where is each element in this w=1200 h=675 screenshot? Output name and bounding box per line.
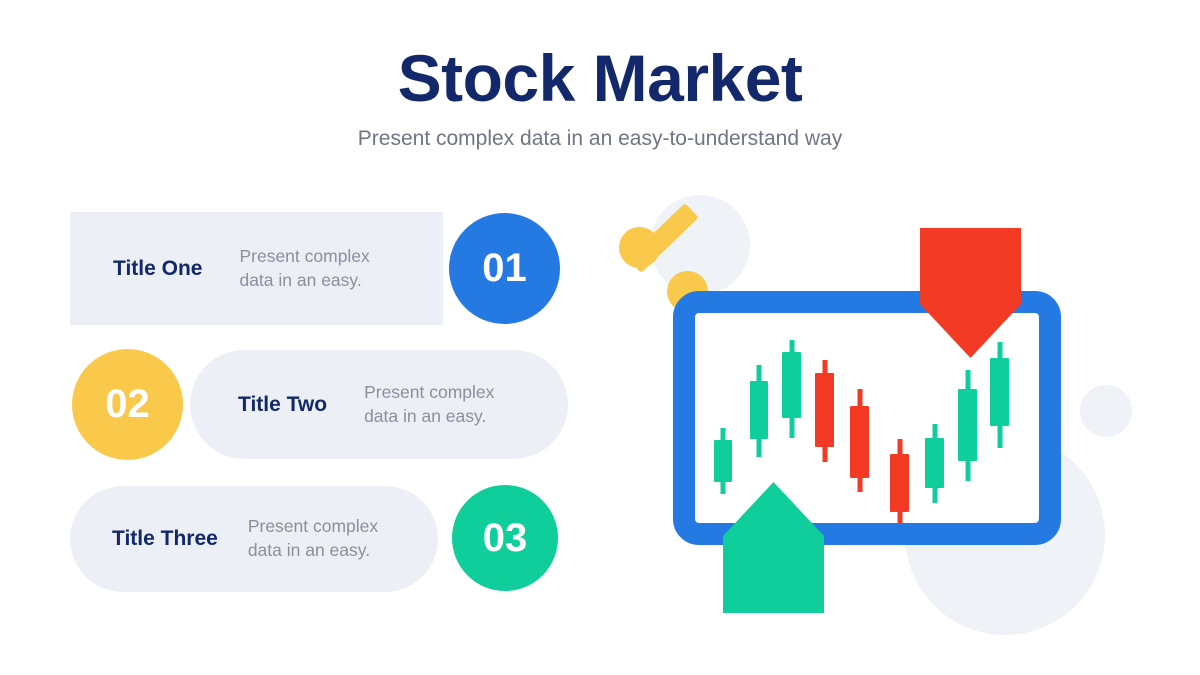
decorative-circle-small-right	[1080, 385, 1132, 437]
list-item-two-description: Present complex data in an easy.	[364, 381, 494, 428]
list-item-three-title: Title Three	[112, 527, 218, 551]
candle-8-body	[958, 389, 977, 461]
list-item-two-number: 02	[105, 382, 150, 427]
list-item-one-number: 01	[482, 246, 527, 291]
candle-6-body	[890, 454, 909, 512]
slide-header: Stock Market Present complex data in an …	[0, 44, 1200, 151]
list-item-three-description: Present complex data in an easy.	[248, 515, 378, 562]
candle-1-body	[714, 440, 732, 482]
list-item-three-number: 03	[483, 516, 528, 561]
list-item-two-title: Title Two	[238, 393, 327, 417]
list-item-three-panel[interactable]: Title Three Present complex data in an e…	[70, 486, 438, 592]
list-item-two-panel[interactable]: Title Two Present complex data in an eas…	[190, 350, 568, 459]
stock-illustration	[600, 170, 1200, 650]
red-down-arrow-icon	[920, 228, 1021, 358]
candle-3-body	[782, 352, 801, 418]
list-item-two-description-line1: Present complex	[364, 382, 494, 402]
list-item-three-description-line1: Present complex	[248, 516, 378, 536]
candle-7-body	[925, 438, 944, 488]
list-item-one-description: Present complex data in an easy.	[239, 245, 369, 292]
list-item-three-number-badge[interactable]: 03	[452, 485, 558, 591]
candle-9	[990, 342, 1009, 448]
slide-canvas: Stock Market Present complex data in an …	[0, 0, 1200, 675]
candle-5	[850, 389, 869, 492]
candle-9-body	[990, 358, 1009, 426]
list-item-three-description-line2: data in an easy.	[248, 540, 370, 560]
list-item-one-description-line1: Present complex	[239, 246, 369, 266]
list-item-one-panel[interactable]: Title One Present complex data in an eas…	[70, 212, 443, 325]
candle-5-body	[850, 406, 869, 478]
page-title: Stock Market	[0, 44, 1200, 113]
green-up-arrow-icon	[723, 482, 824, 613]
candle-4-body	[815, 373, 834, 447]
candle-8	[958, 370, 977, 481]
candle-7	[925, 424, 944, 503]
list-item-one-number-badge[interactable]: 01	[449, 213, 560, 324]
page-subtitle: Present complex data in an easy-to-under…	[0, 127, 1200, 151]
candle-6	[890, 439, 909, 523]
list-item-two-description-line2: data in an easy.	[364, 406, 486, 426]
candle-2-body	[750, 381, 768, 439]
candle-4	[815, 360, 834, 462]
candle-1	[714, 428, 732, 494]
candle-2	[750, 365, 768, 457]
list-item-two-number-badge[interactable]: 02	[72, 349, 183, 460]
list-item-one-title: Title One	[113, 257, 202, 281]
list-item-one-description-line2: data in an easy.	[239, 270, 361, 290]
candle-3	[782, 340, 801, 438]
